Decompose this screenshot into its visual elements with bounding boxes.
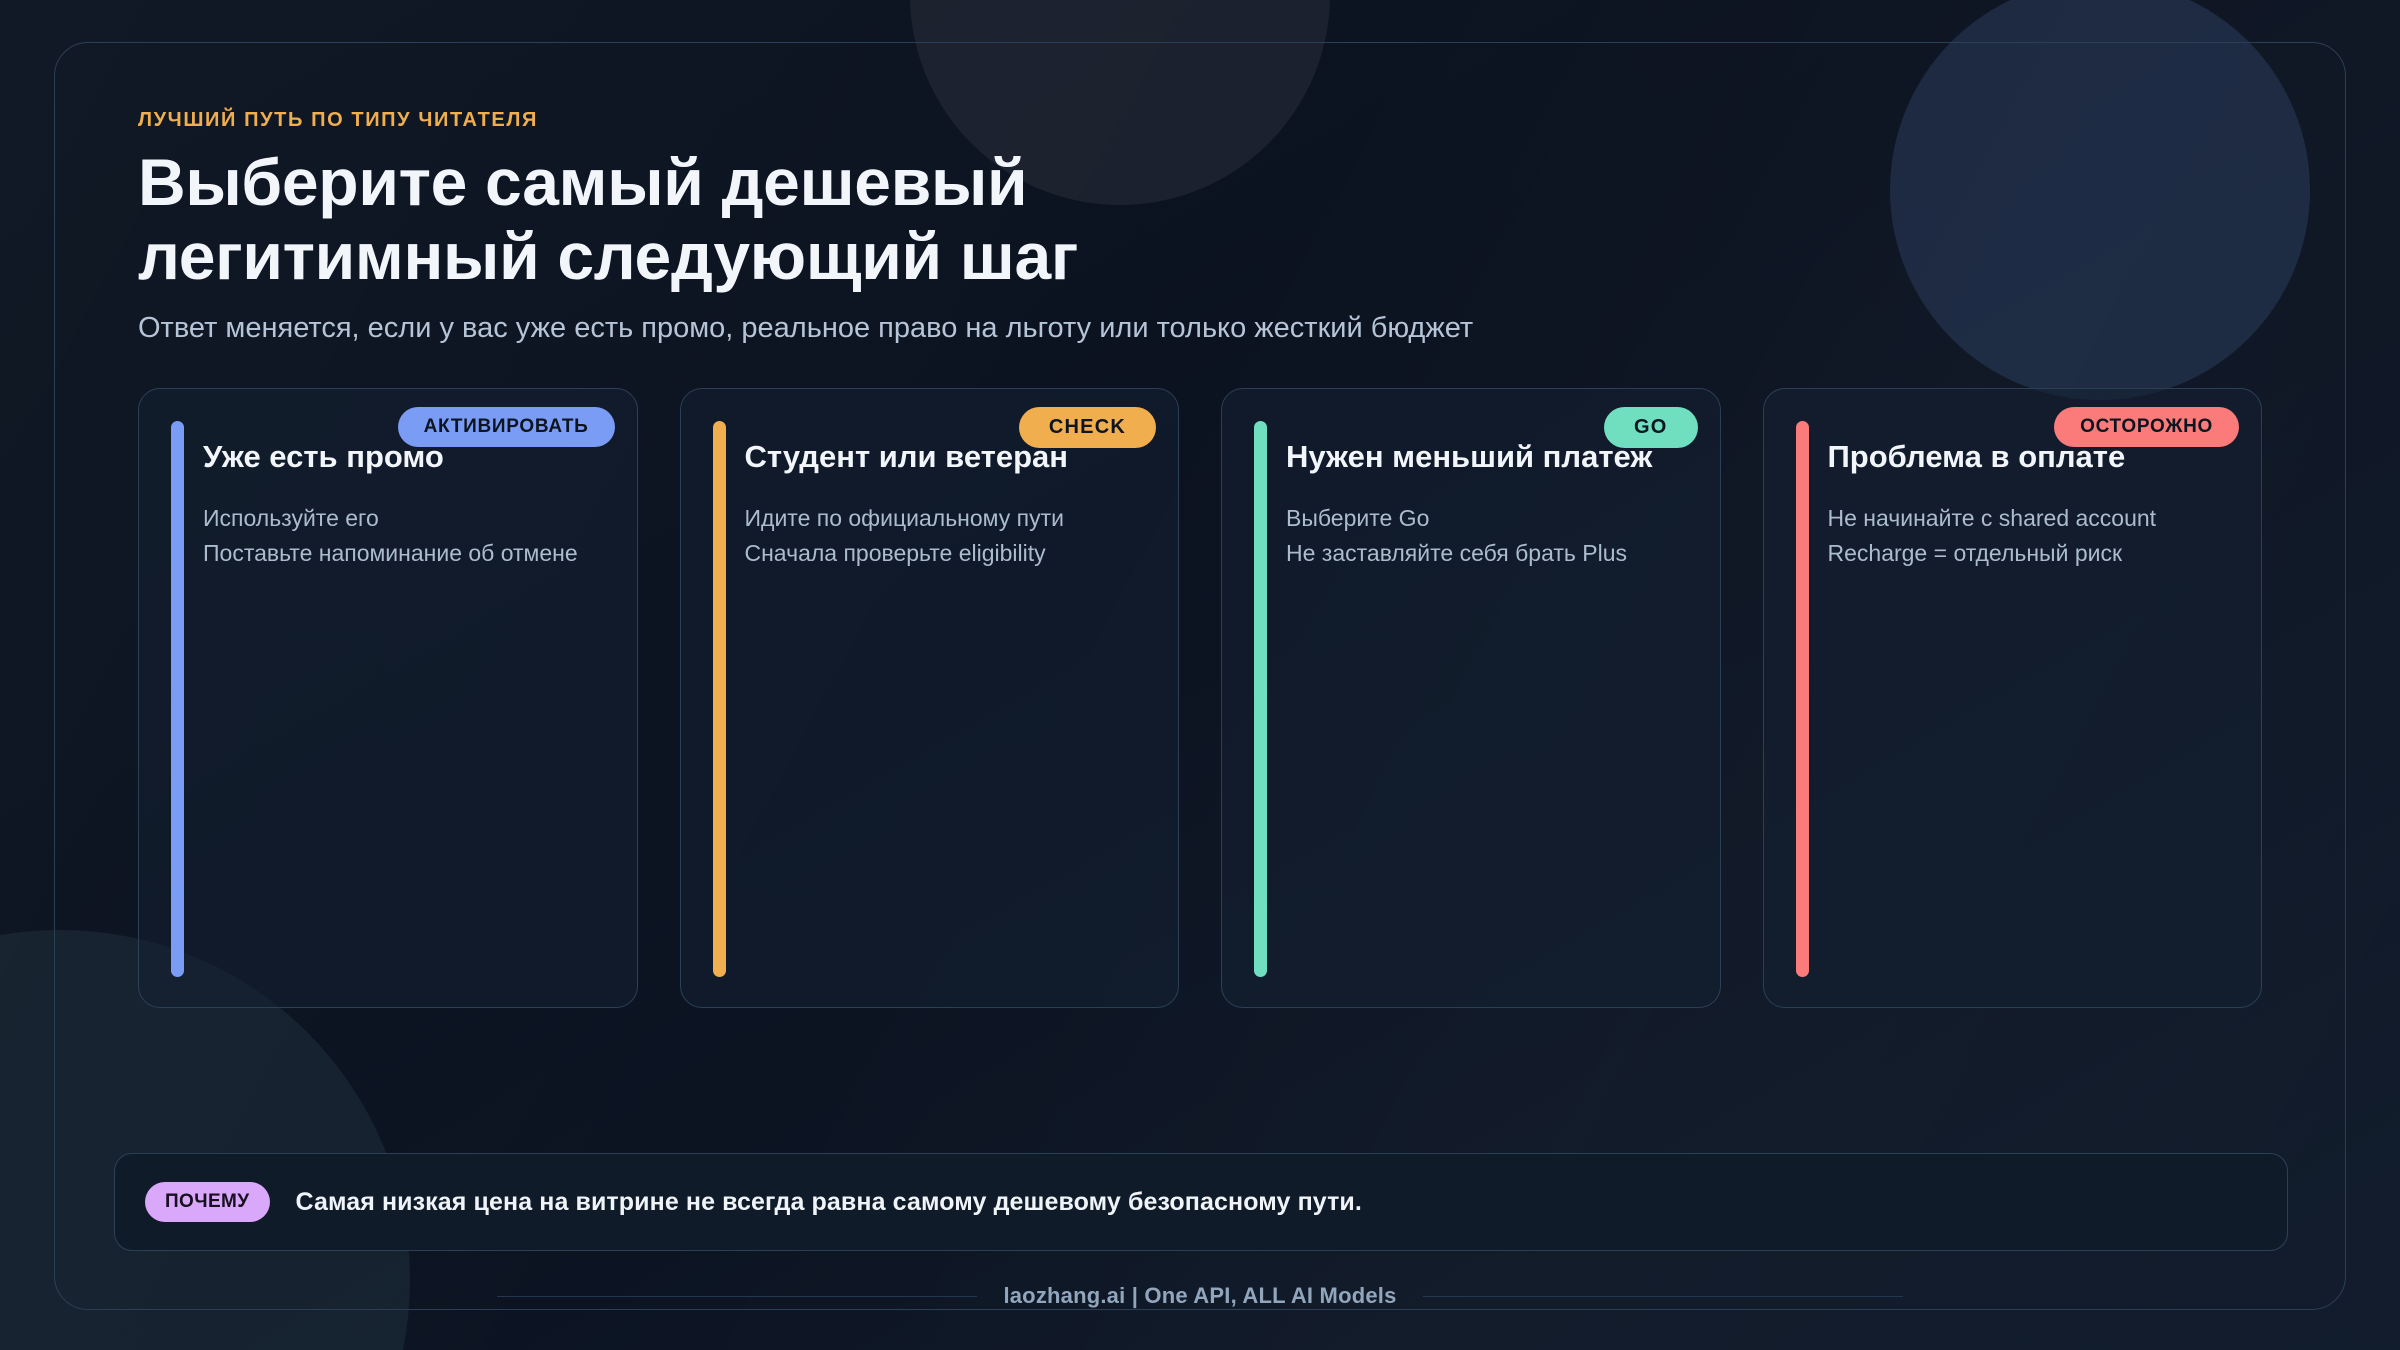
overline-label: ЛУЧШИЙ ПУТЬ ПО ТИПУ ЧИТАТЕЛЯ (138, 108, 2138, 132)
card-badge[interactable]: АКТИВИРОВАТЬ (398, 407, 615, 447)
footnote-bar: ПОЧЕМУ Самая низкая цена на витрине не в… (114, 1153, 2288, 1251)
slide-content: ЛУЧШИЙ ПУТЬ ПО ТИПУ ЧИТАТЕЛЯ Выберите са… (0, 0, 2400, 1350)
card-accent-bar (713, 421, 726, 977)
card-student-veteran[interactable]: CHECK Студент или ветеран Идите по офици… (680, 388, 1180, 1008)
page-title: Выберите самый дешевый легитимный следую… (138, 146, 1238, 294)
card-grid: АКТИВИРОВАТЬ Уже есть промо Используйте … (138, 388, 2262, 1008)
footnote-text: Самая низкая цена на витрине не всегда р… (296, 1188, 1362, 1217)
card-body: Идите по официальному пути Сначала прове… (745, 501, 1159, 570)
page-subtitle: Ответ меняется, если у вас уже есть пром… (138, 310, 2138, 348)
card-title: Нужен меньший платеж (1286, 439, 1652, 475)
card-promo[interactable]: АКТИВИРОВАТЬ Уже есть промо Используйте … (138, 388, 638, 1008)
card-payment-problem[interactable]: ОСТОРОЖНО Проблема в оплате Не начинайте… (1763, 388, 2263, 1008)
card-line-1: Не начинайте с shared account (1828, 501, 2242, 536)
card-accent-bar (1254, 421, 1267, 977)
card-line-1: Идите по официальному пути (745, 501, 1159, 536)
brand-footer: laozhang.ai | One API, ALL AI Models (0, 1283, 2400, 1309)
card-badge[interactable]: ОСТОРОЖНО (2054, 407, 2239, 447)
header-block: ЛУЧШИЙ ПУТЬ ПО ТИПУ ЧИТАТЕЛЯ Выберите са… (138, 108, 2138, 348)
card-line-2: Сначала проверьте eligibility (745, 536, 1159, 571)
card-lower-payment[interactable]: GO Нужен меньший платеж Выберите Go Не з… (1221, 388, 1721, 1008)
card-line-1: Используйте его (203, 501, 617, 536)
card-accent-bar (1796, 421, 1809, 977)
footnote-badge: ПОЧЕМУ (145, 1182, 270, 1222)
card-badge[interactable]: CHECK (1019, 407, 1156, 448)
card-accent-bar (171, 421, 184, 977)
card-body: Не начинайте с shared account Recharge =… (1828, 501, 2242, 570)
card-body: Выберите Go Не заставляйте себя брать Pl… (1286, 501, 1700, 570)
brand-label: laozhang.ai | One API, ALL AI Models (977, 1283, 1422, 1309)
card-body: Используйте его Поставьте напоминание об… (203, 501, 617, 570)
card-badge[interactable]: GO (1604, 407, 1698, 448)
card-line-2: Поставьте напоминание об отмене (203, 536, 617, 571)
card-line-1: Выберите Go (1286, 501, 1700, 536)
card-title: Студент или ветеран (745, 439, 1068, 475)
card-line-2: Recharge = отдельный риск (1828, 536, 2242, 571)
card-line-2: Не заставляйте себя брать Plus (1286, 536, 1700, 571)
